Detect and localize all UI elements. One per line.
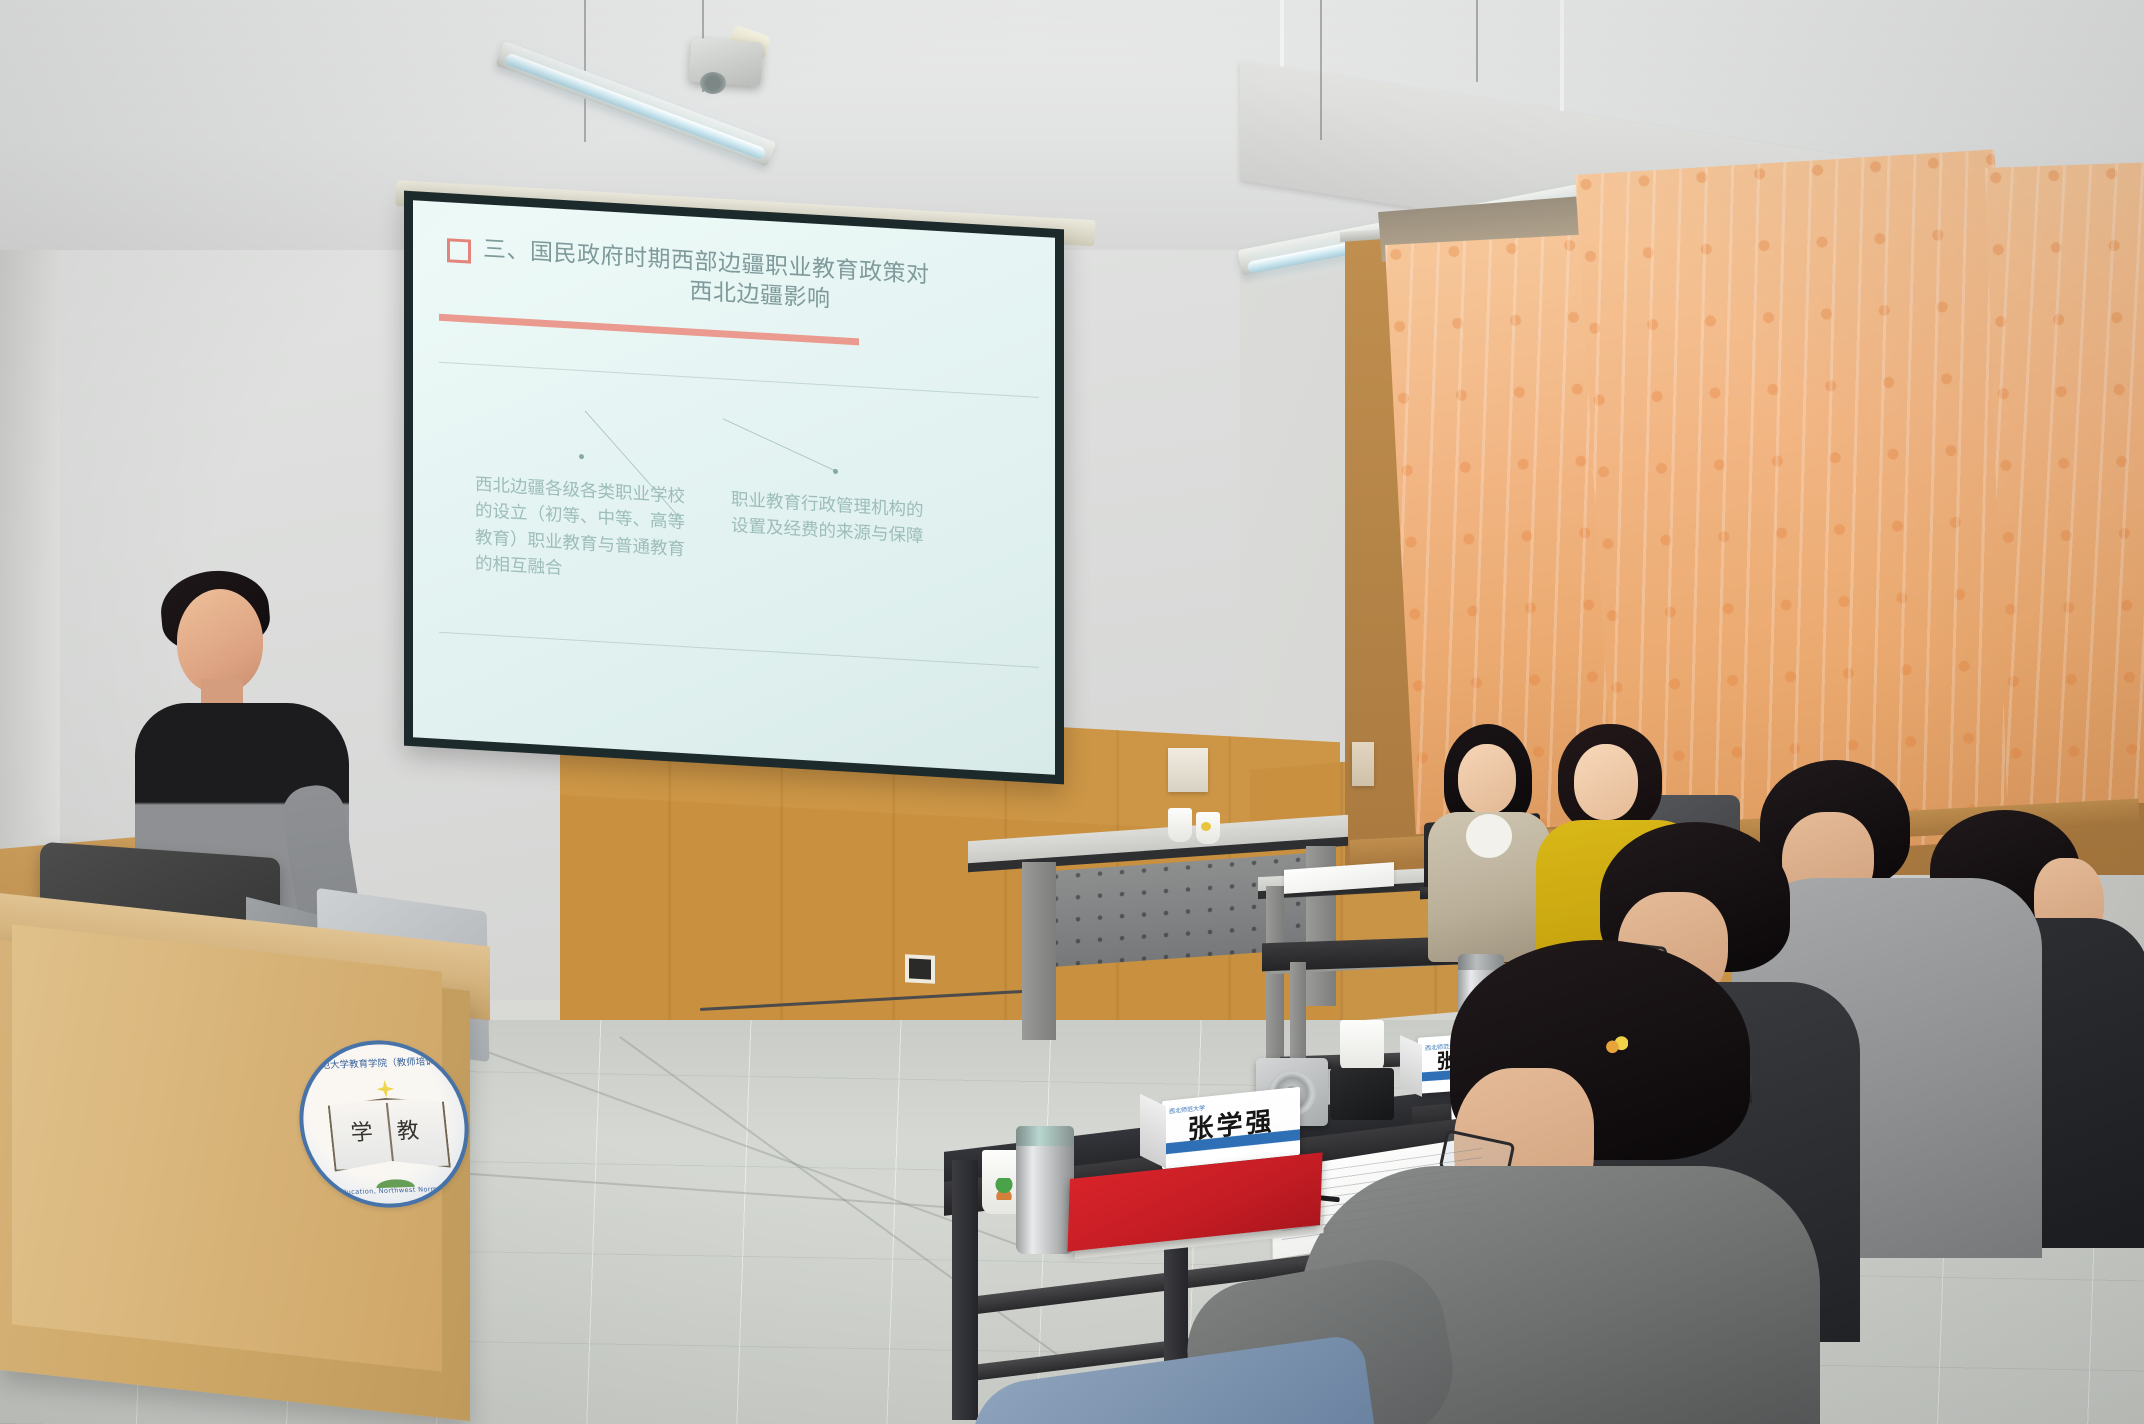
emblem-char-right: 教 xyxy=(395,1113,420,1146)
light-hanger-wire xyxy=(1320,0,1322,140)
front-desk-leg xyxy=(952,1160,978,1420)
connector-line-right xyxy=(723,418,835,470)
wall-socket[interactable] xyxy=(905,954,935,984)
name-card-zd-side xyxy=(1400,1035,1422,1097)
camera-body xyxy=(1330,1068,1394,1120)
cup-print xyxy=(1201,822,1211,831)
projector-lens xyxy=(700,72,726,94)
curtain-far-right[interactable] xyxy=(1985,162,2144,807)
projection-screen-surface[interactable]: 三、国民政府时期西部边疆职业教育政策对 西北边疆影响 西北边疆各级各类职业学校的… xyxy=(413,200,1055,775)
wall-control-box[interactable] xyxy=(1168,748,1208,792)
cup-palm-print xyxy=(990,1178,1018,1200)
square-bullet-icon xyxy=(447,238,471,263)
thermos-front-lid[interactable] xyxy=(1016,1126,1074,1146)
grass-icon xyxy=(361,1172,429,1188)
teacher-desk-leg xyxy=(1022,862,1056,1040)
paper-cup[interactable] xyxy=(1168,808,1192,842)
slide-body-right: 职业教育行政管理机构的设置及经费的来源与保障 xyxy=(731,487,931,551)
connector-endpoint-left xyxy=(579,454,584,459)
av-cart-leg xyxy=(1266,886,1284,1066)
face xyxy=(1458,744,1516,814)
slide-divider-top xyxy=(439,362,1039,398)
classroom-photo: 三、国民政府时期西部边疆职业教育政策对 西北边疆影响 西北边疆各级各类职业学校的… xyxy=(0,0,2144,1424)
light-hanger-wire xyxy=(1476,0,1478,82)
projection-screen-frame: 三、国民政府时期西部边疆职业教育政策对 西北边疆影响 西北边疆各级各类职业学校的… xyxy=(404,191,1064,785)
emblem-chinese-text: 西北师范大学教育学院（教师培训学院） xyxy=(291,1052,464,1072)
face xyxy=(1574,744,1638,820)
paper-cup-left[interactable] xyxy=(1340,1020,1384,1072)
name-card-zx-side xyxy=(1140,1094,1166,1169)
slide-accent-rule xyxy=(439,314,859,346)
university-emblem: 西北师范大学教育学院（教师培训学院） College of Education,… xyxy=(291,1038,477,1211)
lace-collar xyxy=(1466,814,1512,858)
slide-title: 三、国民政府时期西部边疆职业教育政策对 西北边疆影响 xyxy=(483,234,1037,327)
open-book-icon xyxy=(327,1096,451,1172)
thermos-front[interactable] xyxy=(1016,1136,1074,1254)
face xyxy=(177,589,263,693)
ceiling-seam xyxy=(1560,0,1564,120)
emblem-char-left: 学 xyxy=(349,1114,374,1147)
slide-divider-bottom xyxy=(439,632,1039,668)
presentation-slide: 三、国民政府时期西部边疆职业教育政策对 西北边疆影响 西北边疆各级各类职业学校的… xyxy=(413,200,1055,775)
wall-speaker-box xyxy=(1352,742,1374,786)
connector-endpoint-right xyxy=(833,469,838,474)
cup-print xyxy=(1602,1036,1628,1054)
slide-body-left: 西北边疆各级各类职业学校的设立（初等、中等、高等教育）职业教育与普通教育的相互融… xyxy=(475,472,690,590)
